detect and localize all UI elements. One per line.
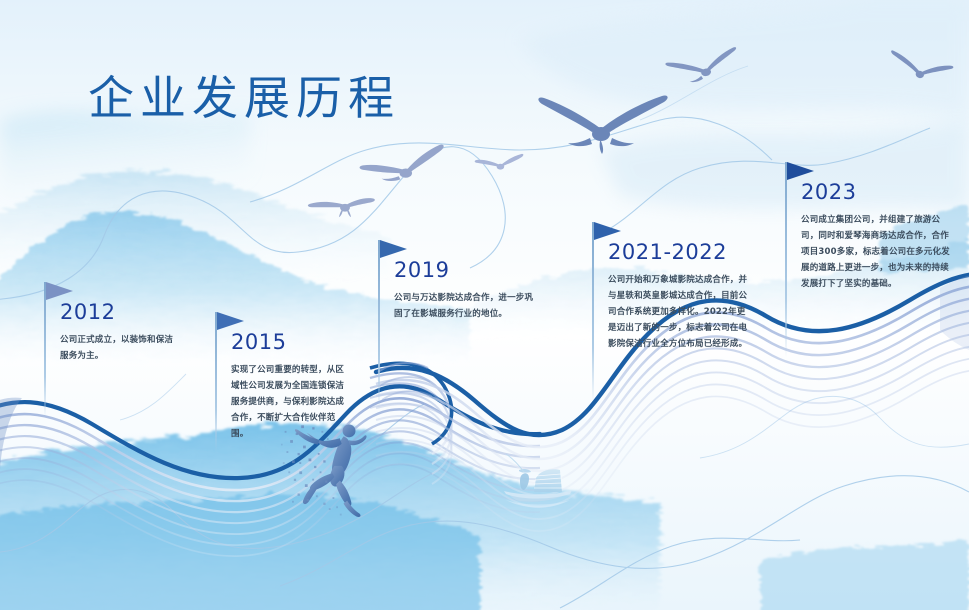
milestone-year: 2023 bbox=[801, 180, 856, 204]
seagull-icon bbox=[308, 198, 375, 217]
milestone-description: 公司开始和万象城影院达成合作，并与星轶和英皇影城达成合作，目前公司合作系统更加多… bbox=[608, 272, 750, 352]
seagull-icon bbox=[538, 95, 667, 154]
milestone-description: 公司成立集团公司，并组建了旅游公司，同时和爱琴海商场达成合作，合作项目300多家… bbox=[801, 212, 953, 292]
flag-pennant-icon bbox=[380, 240, 407, 258]
milestone-description: 实现了公司重要的转型，从区域性公司发展为全国连锁保洁服务提供商，与保利影院达成合… bbox=[231, 362, 347, 442]
flag-pole bbox=[378, 240, 380, 410]
flag-pennant-icon bbox=[217, 312, 244, 330]
page-title: 企业发展历程 bbox=[88, 62, 400, 128]
flag-pole bbox=[215, 312, 217, 452]
milestone-year: 2012 bbox=[60, 300, 115, 324]
milestone-year: 2021-2022 bbox=[608, 240, 727, 264]
flag-pole bbox=[785, 162, 787, 357]
ribbon-vertical-roll bbox=[378, 363, 432, 400]
seagull-icon bbox=[886, 47, 954, 87]
milestone-year: 2019 bbox=[394, 258, 449, 282]
milestone-description: 公司与万达影院达成合作，进一步巩固了在影城服务行业的地位。 bbox=[394, 290, 534, 322]
seagull-icon bbox=[475, 154, 524, 170]
poster-canvas: 企业发展历程 2012 公司正式成立，以装饰和保洁服务为主。 2015 实现了公… bbox=[0, 0, 969, 610]
flag-pole bbox=[592, 222, 594, 402]
milestone-year: 2015 bbox=[231, 330, 286, 354]
flag-pennant-icon bbox=[46, 282, 73, 300]
flag-pennant-icon bbox=[594, 222, 621, 240]
seagull-icon bbox=[360, 145, 444, 181]
flag-pole bbox=[44, 282, 46, 417]
flag-pennant-icon bbox=[787, 162, 814, 180]
seagull-icon bbox=[665, 47, 741, 87]
ribbon-mid-fold bbox=[370, 363, 452, 484]
milestone-description: 公司正式成立，以装饰和保洁服务为主。 bbox=[60, 332, 178, 364]
